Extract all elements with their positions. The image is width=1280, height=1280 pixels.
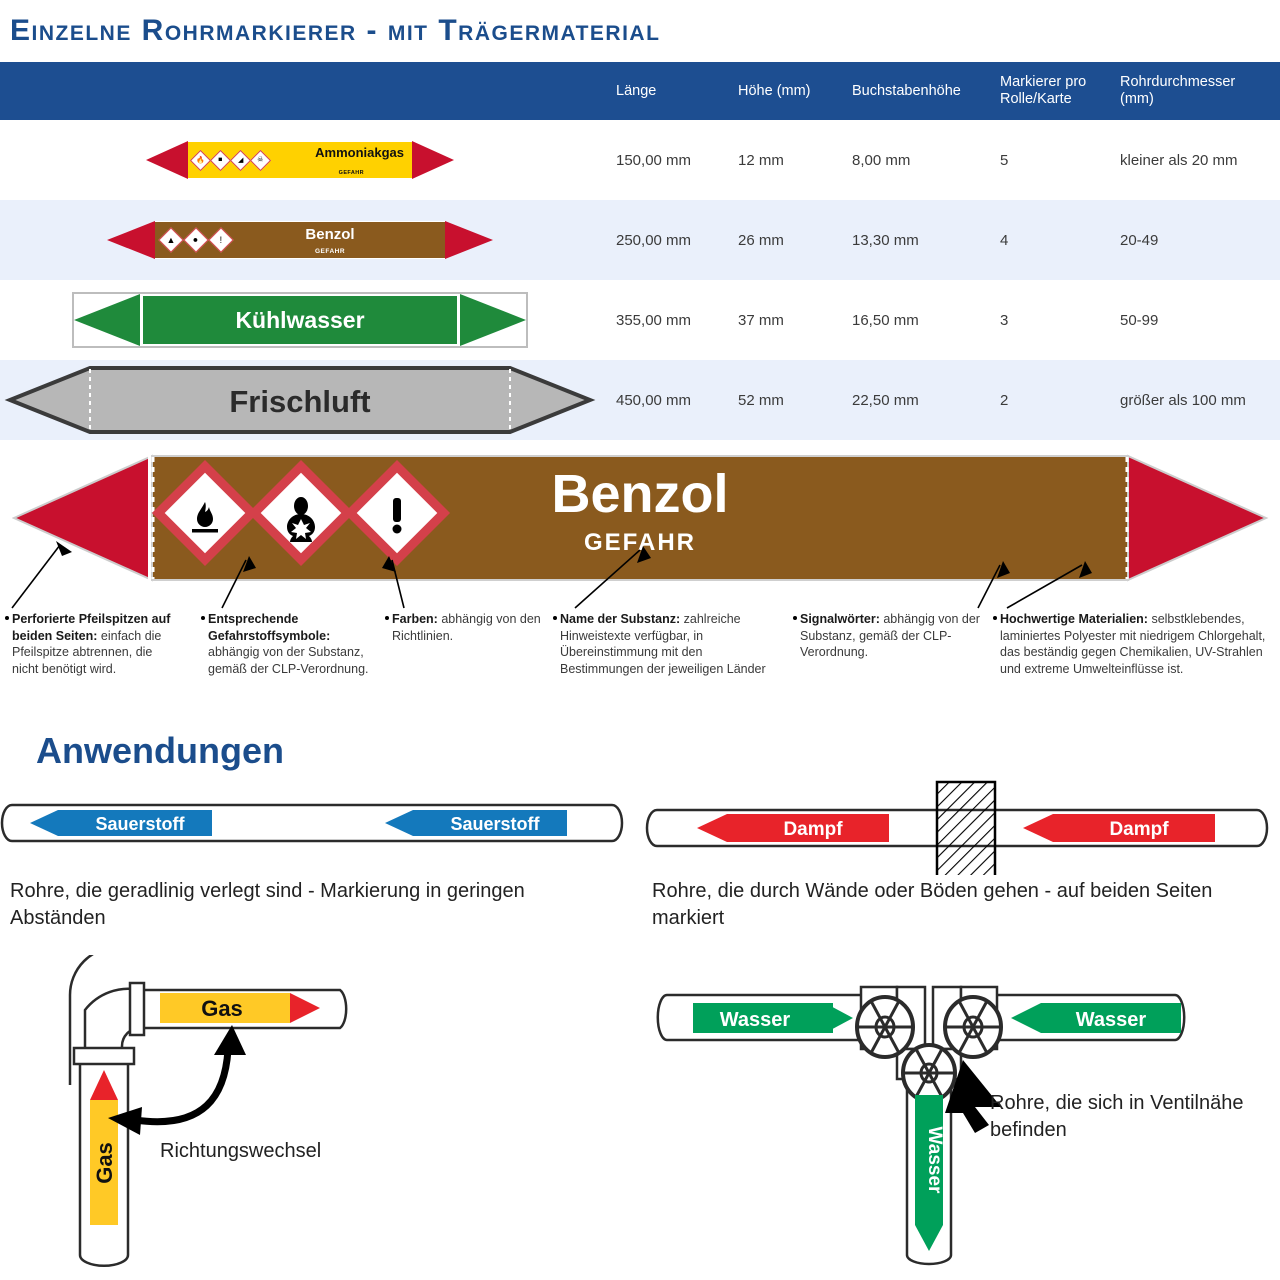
- valve-wheel-icon: [903, 1045, 955, 1101]
- application-caption-direction: Richtungswechsel: [160, 1138, 440, 1165]
- table-body: 🔥 ■ ◢ ☠ Ammoniakgas GEFAHR 150,00 mm 12 …: [0, 120, 1280, 440]
- tag-dampf-1: Dampf: [697, 814, 889, 842]
- cell-rohrdurchmesser: kleiner als 20 mm: [1120, 120, 1238, 200]
- cell-markierer: 5: [1000, 120, 1008, 200]
- column-header-laenge: Länge: [616, 62, 656, 120]
- bullet-icon: [5, 616, 9, 620]
- marker-signal-word: GEFAHR: [155, 248, 445, 255]
- callout-item: Hochwertige Materialien: selbstklebendes…: [1000, 611, 1272, 678]
- cell-laenge: 450,00 mm: [616, 360, 691, 440]
- application-caption-wall: Rohre, die durch Wände oder Böden gehen …: [652, 878, 1262, 932]
- arrow-right-icon: [412, 141, 454, 179]
- table-header-row: Länge Höhe (mm) Buchstabenhöhe Markierer…: [0, 62, 1280, 120]
- ghs-flame-icon: 🔥: [190, 149, 211, 170]
- tag-label: Sauerstoff: [95, 814, 185, 834]
- callout-title: Entsprechende Gefahrstoffsymbole:: [208, 612, 330, 643]
- cell-markierer: 4: [1000, 200, 1008, 280]
- marker-preview-ammoniakgas: 🔥 ■ ◢ ☠ Ammoniakgas GEFAHR: [0, 120, 600, 200]
- frischluft-shape: Frischluft: [0, 362, 600, 438]
- cell-hoehe: 52 mm: [738, 360, 784, 440]
- marker-label: Kühlwasser: [235, 307, 364, 334]
- column-header-rohrdurchmesser: Rohrdurchmesser (mm): [1120, 62, 1270, 120]
- bullet-icon: [793, 616, 797, 620]
- marker-label: Benzol: [155, 226, 445, 243]
- tag-wasser-left: Wasser: [693, 1003, 853, 1033]
- marker-label: Ammoniakgas: [315, 145, 404, 160]
- page-title: Einzelne Rohrmarkierer - mit Trägermater…: [10, 14, 660, 48]
- benzol-marker-graphic: Benzol GEFAHR: [0, 440, 1280, 590]
- cell-laenge: 250,00 mm: [616, 200, 691, 280]
- callout-body: abhängig von der Substanz, gemäß der CLP…: [208, 645, 369, 676]
- cell-markierer: 2: [1000, 360, 1008, 440]
- callout-title: Signalwörter:: [800, 612, 880, 626]
- column-header-buchstabenhoehe: Buchstabenhöhe: [852, 62, 961, 120]
- application-caption-straight: Rohre, die geradlinig verlegt sind - Mar…: [10, 878, 610, 932]
- callout-title: Hochwertige Materialien:: [1000, 612, 1148, 626]
- arrow-left-icon: [74, 294, 140, 346]
- tag-sauerstoff-2: Sauerstoff: [385, 810, 567, 836]
- cell-laenge: 150,00 mm: [616, 120, 691, 200]
- callout-list: Perforierte Pfeilspitzen auf beiden Seit…: [0, 605, 1280, 720]
- arrow-right-icon: [460, 294, 526, 346]
- valve-wheel-icon: [857, 997, 913, 1057]
- tag-label: Wasser: [1076, 1009, 1147, 1031]
- ghs-skull-icon: ☠: [250, 149, 271, 170]
- bullet-icon: [385, 616, 389, 620]
- tag-label: Dampf: [783, 819, 843, 840]
- cell-markierer: 3: [1000, 280, 1008, 360]
- cell-hoehe: 37 mm: [738, 280, 784, 360]
- arrow-left-icon: [14, 456, 152, 580]
- application-wall-pipe-diagram: Dampf Dampf: [645, 780, 1280, 875]
- tag-gas-vertical: Gas: [90, 1070, 118, 1225]
- callout-title: Name der Substanz:: [560, 612, 680, 626]
- flange-icon: [74, 1048, 134, 1064]
- applications-heading: Anwendungen: [36, 730, 284, 772]
- table-row: 🔥 ■ ◢ ☠ Ammoniakgas GEFAHR 150,00 mm 12 …: [0, 120, 1280, 200]
- tag-gas-horizontal: Gas: [160, 993, 320, 1023]
- column-header-hoehe: Höhe (mm): [738, 62, 811, 120]
- callout-item: Signalwörter: abhängig von der Substanz,…: [800, 611, 985, 661]
- cell-buchstabenhoehe: 13,30 mm: [852, 200, 919, 280]
- tag-label: Gas: [201, 996, 243, 1021]
- ghs-gas-cylinder-icon: ■: [210, 149, 231, 170]
- callout-title: Farben:: [392, 612, 438, 626]
- marker-preview-benzol: ▲ ● ! Benzol GEFAHR: [0, 200, 600, 280]
- ghs-corrosion-icon: ◢: [230, 149, 251, 170]
- tag-label: Dampf: [1109, 819, 1169, 840]
- tag-sauerstoff-1: Sauerstoff: [30, 810, 212, 836]
- wall-icon: [937, 782, 995, 875]
- tag-label: Wasser: [720, 1009, 791, 1031]
- arrow-up-icon: [214, 1025, 246, 1055]
- bullet-icon: [201, 616, 205, 620]
- arrow-right-icon: [445, 221, 493, 259]
- tag-wasser-vertical: Wasser: [915, 1095, 945, 1251]
- arrow-right-icon: [1128, 456, 1266, 580]
- table-row: ▲ ● ! Benzol GEFAHR 250,00 mm 26 mm 13,3…: [0, 200, 1280, 280]
- arrow-left-icon: [107, 221, 155, 259]
- cell-rohrdurchmesser: 20-49: [1120, 200, 1158, 280]
- tag-label: Sauerstoff: [450, 814, 540, 834]
- marker-preview-kuehlwasser: Kühlwasser: [0, 280, 600, 360]
- callout-item: Farben: abhängig von den Richtlinien.: [392, 611, 542, 644]
- cell-rohrdurchmesser: größer als 100 mm: [1120, 360, 1246, 440]
- tag-label: Wasser: [924, 1127, 945, 1194]
- cell-laenge: 355,00 mm: [616, 280, 691, 360]
- callout-item: Entsprechende Gefahrstoffsymbole: abhäng…: [208, 611, 373, 678]
- bullet-icon: [993, 616, 997, 620]
- application-direction-change-diagram: Gas Gas: [0, 955, 430, 1280]
- arrow-left-icon: [146, 141, 188, 179]
- cell-buchstabenhoehe: 22,50 mm: [852, 360, 919, 440]
- cell-buchstabenhoehe: 16,50 mm: [852, 280, 919, 360]
- bullet-icon: [553, 616, 557, 620]
- flange-icon: [130, 983, 144, 1035]
- column-header-markierer: Markierer pro Rolle/Karte: [1000, 62, 1100, 120]
- marker-signal-word: GEFAHR: [339, 170, 364, 176]
- table-row: Kühlwasser 355,00 mm 37 mm 16,50 mm 3 50…: [0, 280, 1280, 360]
- cell-hoehe: 26 mm: [738, 200, 784, 280]
- tag-wasser-right: Wasser: [1011, 1003, 1181, 1033]
- big-marker-signal-word: GEFAHR: [584, 529, 696, 556]
- callout-item: Perforierte Pfeilspitzen auf beiden Seit…: [12, 611, 182, 678]
- table-row: Frischluft 450,00 mm 52 mm 22,50 mm 2 gr…: [0, 360, 1280, 440]
- marker-preview-frischluft: Frischluft: [0, 360, 600, 440]
- application-straight-pipe-diagram: Sauerstoff Sauerstoff: [0, 795, 625, 865]
- valve-wheel-icon: [945, 997, 1001, 1057]
- application-caption-valve: Rohre, die sich in Ventilnähe befinden: [990, 1090, 1280, 1144]
- benzol-detail-diagram: Benzol GEFAHR: [0, 440, 1280, 590]
- tag-dampf-2: Dampf: [1023, 814, 1215, 842]
- marker-label: Frischluft: [229, 384, 370, 419]
- cell-rohrdurchmesser: 50-99: [1120, 280, 1158, 360]
- cell-buchstabenhoehe: 8,00 mm: [852, 120, 910, 200]
- callout-item: Name der Substanz: zahlreiche Hinweistex…: [560, 611, 775, 678]
- specs-table: Länge Höhe (mm) Buchstabenhöhe Markierer…: [0, 62, 1280, 440]
- tag-label: Gas: [92, 1142, 117, 1184]
- big-marker-name: Benzol: [551, 464, 728, 524]
- cell-hoehe: 12 mm: [738, 120, 784, 200]
